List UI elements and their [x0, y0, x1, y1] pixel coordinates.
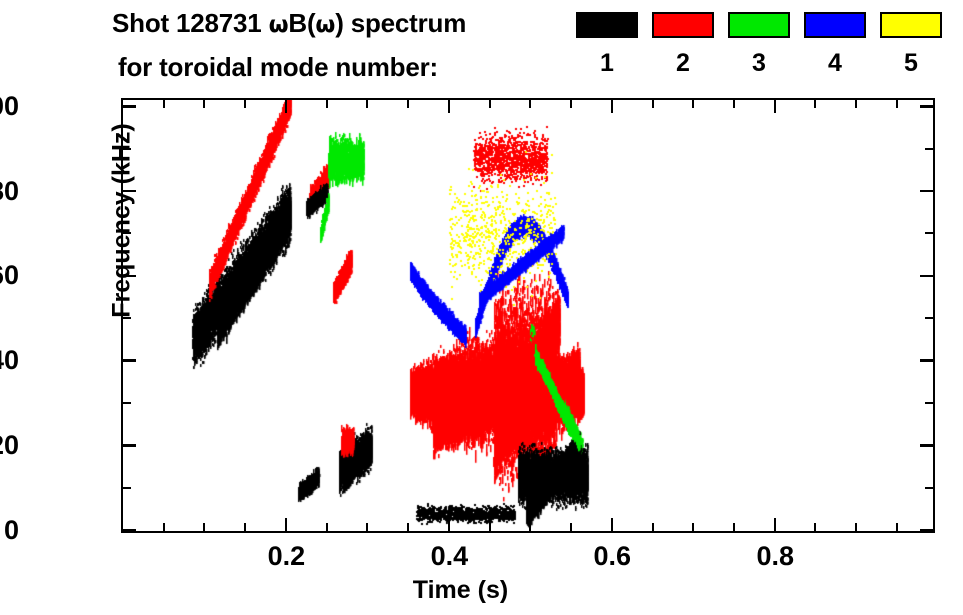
y-tick-major-right-0 [920, 529, 933, 532]
y-tick-minor-30 [123, 402, 131, 404]
legend-item-3[interactable]: 3 [728, 12, 790, 38]
legend-swatch-mode-n1 [576, 12, 638, 38]
x-tick-minor-0.45 [489, 523, 491, 531]
x-tick-minor-0.55 [570, 523, 572, 531]
omega-symbol-1: ω [269, 12, 289, 38]
figure-title-line-1: Shot 128731 ωB(ω) spectrum [112, 8, 466, 39]
x-tick-minor-top-0.3 [366, 100, 368, 108]
x-tick-major-0.4 [448, 518, 451, 531]
x-tick-major-0.8 [774, 518, 777, 531]
y-tick-minor-10 [123, 487, 131, 489]
y-tick-minor-right-50 [925, 317, 933, 319]
x-tick-minor-top-0.15 [244, 100, 246, 108]
y-tick-major-right-80 [920, 190, 933, 193]
x-tick-minor-0.25 [326, 523, 328, 531]
x-tick-minor-top-0.7 [692, 100, 694, 108]
omega-symbol-2: ω [315, 12, 335, 38]
y-tick-major-right-20 [920, 444, 933, 447]
x-tick-minor-0.5 [529, 523, 531, 531]
x-tick-minor-top-0.1 [203, 100, 205, 108]
x-tick-minor-0.7 [692, 523, 694, 531]
x-tick-minor-0.35 [407, 523, 409, 531]
spectrogram-canvas [123, 100, 933, 531]
y-tick-label-20: 20 [0, 432, 19, 459]
y-tick-label-40: 40 [0, 347, 19, 374]
x-axis-title: Time (s) [0, 576, 963, 605]
y-tick-minor-right-70 [925, 232, 933, 234]
y-tick-major-right-100 [920, 105, 933, 108]
x-tick-major-0.6 [611, 518, 614, 531]
x-axis-title-text: Time (s) [413, 576, 508, 604]
y-tick-label-100: 100 [0, 93, 19, 120]
x-tick-major-0.2 [285, 518, 288, 531]
legend: 12345 [576, 12, 956, 86]
y-tick-major-right-60 [920, 275, 933, 278]
x-tick-major-top-0.2 [285, 100, 288, 113]
x-tick-minor-top-0.25 [326, 100, 328, 108]
title-prefix: Shot 128731 [112, 8, 269, 38]
x-tick-label-0.6: 0.6 [567, 543, 657, 570]
y-tick-minor-right-10 [925, 487, 933, 489]
plot-area [121, 98, 935, 533]
x-tick-minor-0.95 [896, 523, 898, 531]
x-tick-minor-top-0.55 [570, 100, 572, 108]
x-tick-minor-top-0.95 [896, 100, 898, 108]
x-tick-label-0.8: 0.8 [730, 543, 820, 570]
x-tick-minor-0.1 [203, 523, 205, 531]
x-tick-minor-top-0.75 [733, 100, 735, 108]
x-tick-minor-top-0.5 [529, 100, 531, 108]
legend-item-2[interactable]: 2 [652, 12, 714, 38]
x-tick-major-top-0.8 [774, 100, 777, 113]
x-tick-minor-top-0.35 [407, 100, 409, 108]
y-tick-label-80: 80 [0, 178, 19, 205]
x-tick-minor-top-0.65 [652, 100, 654, 108]
x-tick-minor-top-0.05 [163, 100, 165, 108]
figure-title-line-2: for toroidal mode number: [118, 52, 438, 83]
y-axis-title-text: Frequency (kHz) [108, 123, 136, 317]
y-tick-minor-right-90 [925, 148, 933, 150]
y-tick-minor-right-30 [925, 402, 933, 404]
x-tick-minor-0.65 [652, 523, 654, 531]
legend-item-4[interactable]: 4 [804, 12, 866, 38]
x-tick-minor-0.9 [855, 523, 857, 531]
y-tick-label-0: 0 [0, 517, 19, 544]
y-tick-label-60: 60 [0, 262, 19, 289]
y-tick-major-20 [123, 444, 136, 447]
x-tick-minor-0.85 [814, 523, 816, 531]
legend-item-1[interactable]: 1 [576, 12, 638, 38]
y-axis-title: Frequency (kHz) [108, 91, 137, 351]
x-tick-minor-0.75 [733, 523, 735, 531]
x-tick-label-0.4: 0.4 [404, 543, 494, 570]
x-tick-minor-top-0.9 [855, 100, 857, 108]
legend-label-5: 5 [880, 48, 942, 78]
x-tick-minor-top-0.85 [814, 100, 816, 108]
title-suffix: ) spectrum [335, 8, 466, 38]
title-mid: B( [288, 8, 315, 38]
y-tick-major-right-40 [920, 359, 933, 362]
x-tick-minor-top-0.45 [489, 100, 491, 108]
legend-label-2: 2 [652, 48, 714, 78]
x-tick-major-top-0.4 [448, 100, 451, 113]
legend-swatch-mode-n5 [880, 12, 942, 38]
legend-swatch-mode-n2 [652, 12, 714, 38]
x-tick-label-0.2: 0.2 [241, 543, 331, 570]
x-tick-minor-0.15 [244, 523, 246, 531]
legend-item-5[interactable]: 5 [880, 12, 942, 38]
y-tick-major-40 [123, 359, 136, 362]
y-tick-major-0 [123, 529, 136, 532]
legend-label-4: 4 [804, 48, 866, 78]
spectrogram-figure: Shot 128731 ωB(ω) spectrum for toroidal … [0, 0, 963, 615]
legend-swatch-mode-n3 [728, 12, 790, 38]
legend-swatch-mode-n4 [804, 12, 866, 38]
legend-label-3: 3 [728, 48, 790, 78]
legend-label-1: 1 [576, 48, 638, 78]
x-tick-minor-0.05 [163, 523, 165, 531]
x-tick-minor-0.3 [366, 523, 368, 531]
x-tick-major-top-0.6 [611, 100, 614, 113]
